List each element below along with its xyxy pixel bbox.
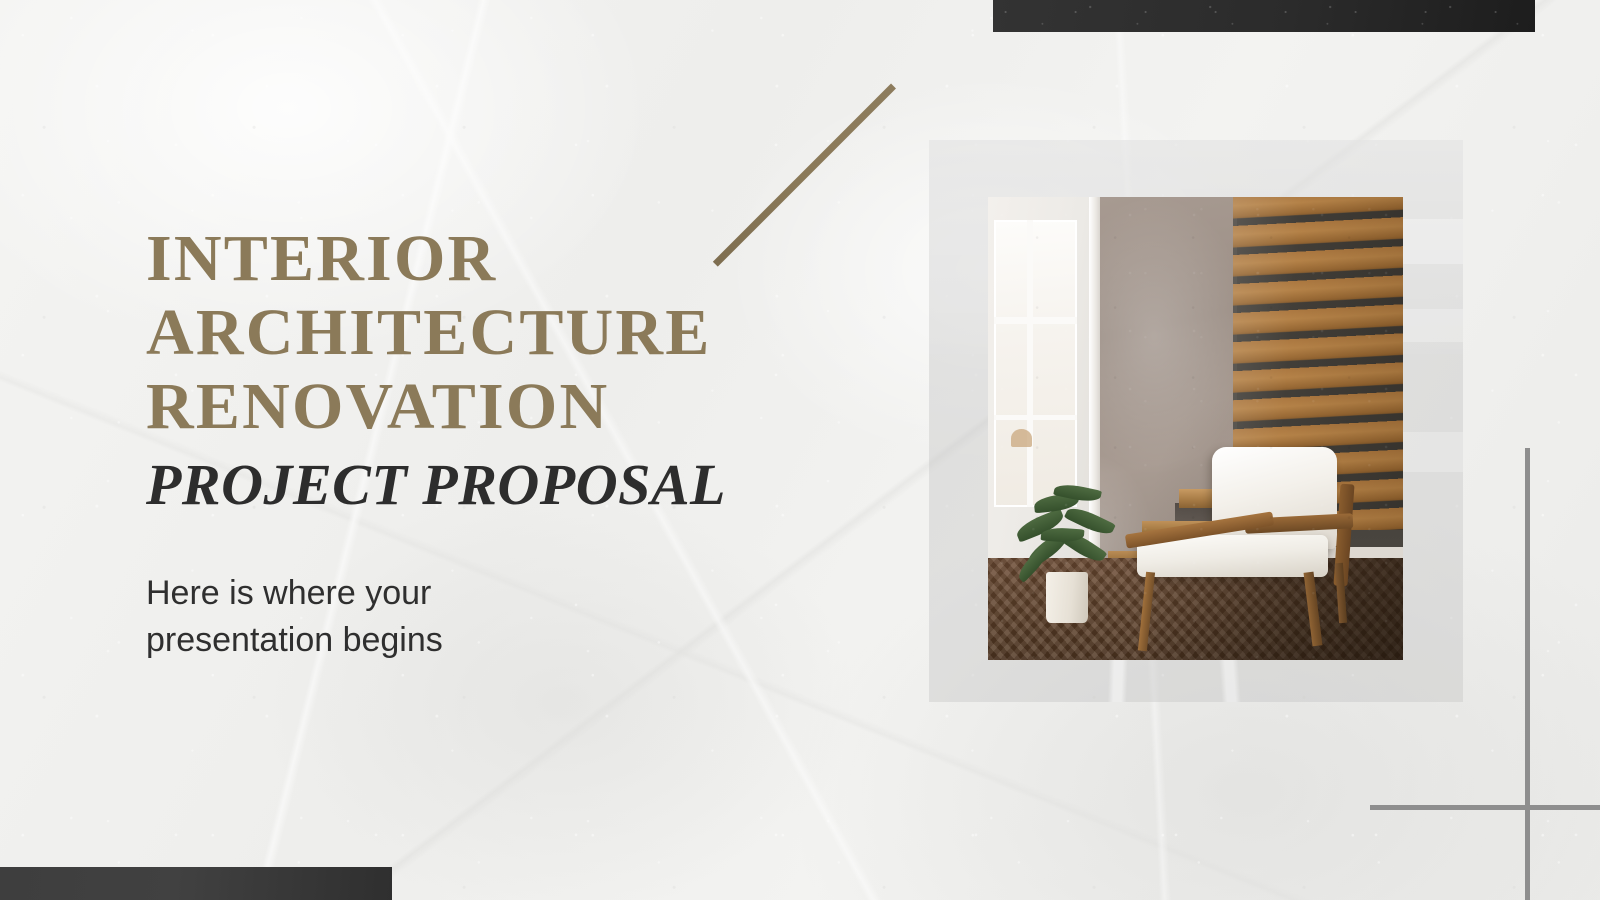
title-slide: INTERIOR ARCHITECTURE RENOVATION PROJECT… (0, 0, 1600, 900)
interior-photo (988, 197, 1403, 660)
top-right-dark-bar (993, 0, 1535, 32)
bottom-left-dark-bar (0, 867, 392, 900)
page-title: INTERIOR ARCHITECTURE RENOVATION (146, 222, 806, 444)
tagline-text: Here is where your presentation begins (146, 570, 526, 664)
page-subtitle: PROJECT PROPOSAL (146, 452, 806, 518)
title-text-block: INTERIOR ARCHITECTURE RENOVATION PROJECT… (146, 222, 806, 664)
photo-grain-overlay (988, 197, 1403, 660)
cross-horizontal-rule (1370, 805, 1600, 810)
cross-vertical-rule (1525, 448, 1530, 900)
